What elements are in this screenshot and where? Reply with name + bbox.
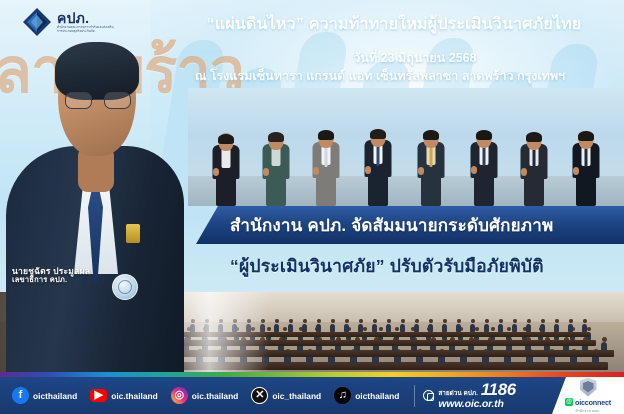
audience-person-head: [289, 319, 293, 323]
speaker-portrait: [0, 28, 190, 380]
group-photo-person: [358, 126, 398, 206]
speaker-name-caption: นายชูฉัตร ประมูลผล เลขาธิการ คปภ.: [12, 266, 90, 285]
x-twitter-icon: ✕: [251, 387, 268, 404]
audience-person: [568, 324, 573, 332]
audience-person-head: [363, 327, 367, 331]
audience-person-head: [507, 327, 511, 331]
audience-person-head: [583, 319, 587, 323]
hotline-number: 1186: [481, 381, 516, 399]
audience-person: [344, 324, 349, 332]
audience-person-head: [602, 337, 607, 342]
audience-person-head: [415, 319, 419, 323]
oic-diamond-icon: [22, 7, 52, 37]
headline-line-2: “ผู้ประเมินวินาศภัย” ปรับตัวรับมือภัยพิบ…: [196, 252, 544, 280]
audience-person-head: [429, 319, 433, 323]
audience-person: [526, 324, 531, 332]
audience-person-head: [471, 319, 475, 323]
social-handle-x: oic_thailand: [272, 391, 321, 401]
audience-person-head: [587, 327, 591, 331]
headline-band-secondary: “ผู้ประเมินวินาศภัย” ปรับตัวรับมือภัยพิบ…: [196, 246, 624, 286]
audience-person: [274, 324, 279, 332]
footer-divider: [414, 385, 415, 407]
social-handle-instagram: oic.thailand: [192, 391, 239, 401]
line-handle: oicconnect: [575, 398, 611, 407]
group-photo: [188, 88, 624, 206]
social-link-youtube[interactable]: ▶oic.thailand: [90, 389, 171, 402]
audience-person-head: [485, 319, 489, 323]
event-title: “แผ่นดินไหว” ความท้าทายใหม่ผู้ประเมินวิน…: [168, 12, 620, 37]
hotline-label: สายด่วน คปภ.: [438, 391, 477, 398]
audience-person: [428, 324, 433, 332]
social-handle-facebook: oicthailand: [33, 391, 77, 401]
facebook-icon: f: [12, 387, 29, 404]
headline-band-primary: สำนักงาน คปภ. จัดสัมมนายกระดับศักยภาพ: [196, 206, 624, 244]
hotline-block[interactable]: สายด่วน คปภ. 1186 www.oic.or.th: [423, 381, 515, 410]
audience-person: [456, 324, 461, 332]
audience-person-head: [555, 319, 559, 323]
phone-icon: [423, 390, 434, 401]
group-photo-person: [514, 130, 554, 206]
audience-person: [372, 324, 377, 332]
social-handle-tiktok: oicthailand: [355, 391, 399, 401]
audience-person-head: [499, 319, 503, 323]
audience-person: [442, 324, 447, 332]
group-photo-person: [256, 130, 296, 206]
group-photo-person: [464, 127, 504, 206]
social-link-tiktok[interactable]: ♫oicthailand: [334, 387, 412, 404]
audience-person: [470, 324, 475, 332]
line-badge-subtitle: สำนักงาน คปภ.: [575, 408, 600, 414]
audience-person-head: [457, 319, 461, 323]
social-link-instagram[interactable]: ◎oic.thailand: [171, 387, 252, 404]
lapel-badge: [126, 224, 140, 243]
audience-person-head: [379, 327, 383, 331]
group-photo-person: [566, 129, 606, 206]
news-banner: ลาดพร้าว “แผ่นดินไหว” ความท้าทายใหม่ผู้ป…: [0, 0, 624, 414]
logo-subtitle-line2: การประกอบธุรกิจประกันภัย: [57, 30, 114, 33]
oic-shield-icon: [580, 378, 597, 397]
audience-person-head: [527, 319, 531, 323]
oic-seal-emblem: [112, 274, 138, 300]
line-official-badge[interactable]: @ oicconnect สำนักงาน คปภ.: [552, 377, 624, 414]
website-url[interactable]: www.oic.or.th: [438, 399, 515, 410]
eyeglasses-icon: [63, 92, 133, 110]
instagram-icon: ◎: [171, 387, 188, 404]
audience-person: [288, 324, 293, 332]
audience-person: [302, 324, 307, 332]
audience-person: [484, 324, 489, 332]
audience-person-head: [303, 319, 307, 323]
footer-social-bar: foicthailand▶oic.thailand◎oic.thailand✕o…: [0, 377, 624, 414]
audience-person: [330, 324, 335, 332]
audience-person-head: [475, 327, 479, 331]
speaker-position: เลขาธิการ คปภ.: [12, 276, 90, 285]
audience-person-head: [275, 319, 279, 323]
audience-person-head: [283, 327, 287, 331]
audience-person-head: [317, 319, 321, 323]
logo-abbreviation: คปภ.: [57, 11, 114, 25]
tiktok-icon: ♫: [334, 387, 351, 404]
audience-person-head: [345, 319, 349, 323]
youtube-icon: ▶: [90, 389, 107, 402]
audience-person-head: [491, 327, 495, 331]
audience-person: [414, 324, 419, 332]
audience-person: [498, 324, 503, 332]
audience-person: [512, 324, 517, 332]
audience-person-head: [373, 319, 377, 323]
audience-person: [582, 324, 587, 332]
social-links: foicthailand▶oic.thailand◎oic.thailand✕o…: [0, 387, 412, 404]
audience-person-head: [331, 319, 335, 323]
group-photo-person: [306, 128, 346, 206]
audience-person: [316, 324, 321, 332]
audience-person: [554, 324, 559, 332]
audience-person: [400, 324, 405, 332]
audience-person-head: [569, 319, 573, 323]
audience-person-head: [541, 319, 545, 323]
audience-person-head: [401, 319, 405, 323]
social-link-facebook[interactable]: foicthailand: [12, 387, 90, 404]
audience-person: [601, 342, 607, 351]
audience-person: [358, 324, 363, 332]
event-venue: ณ โรงแรมเซ็นทารา แกรนด์ แอท เซ็นทรัลพลาซ…: [140, 66, 620, 86]
group-photo-person: [411, 128, 451, 206]
audience-person: [540, 324, 545, 332]
social-link-x[interactable]: ✕oic_thailand: [251, 387, 334, 404]
social-handle-youtube: oic.thailand: [111, 391, 158, 401]
audience-person-head: [513, 319, 517, 323]
group-photo-person: [206, 132, 246, 206]
audience-person: [386, 324, 391, 332]
audience-person-head: [443, 319, 447, 323]
line-at-icon: @: [565, 398, 573, 406]
audience-person-head: [395, 327, 399, 331]
oic-logo: คปภ. สำนักงานคณะกรรมการกำกับและส่งเสริม …: [22, 7, 114, 37]
event-date: วันที่ 23 มิถุนายน 2568: [210, 48, 620, 68]
audience-person-head: [387, 319, 391, 323]
audience-person-head: [359, 319, 363, 323]
headline-line-1: สำนักงาน คปภ. จัดสัมมนายกระดับศักยภาพ: [196, 212, 553, 239]
